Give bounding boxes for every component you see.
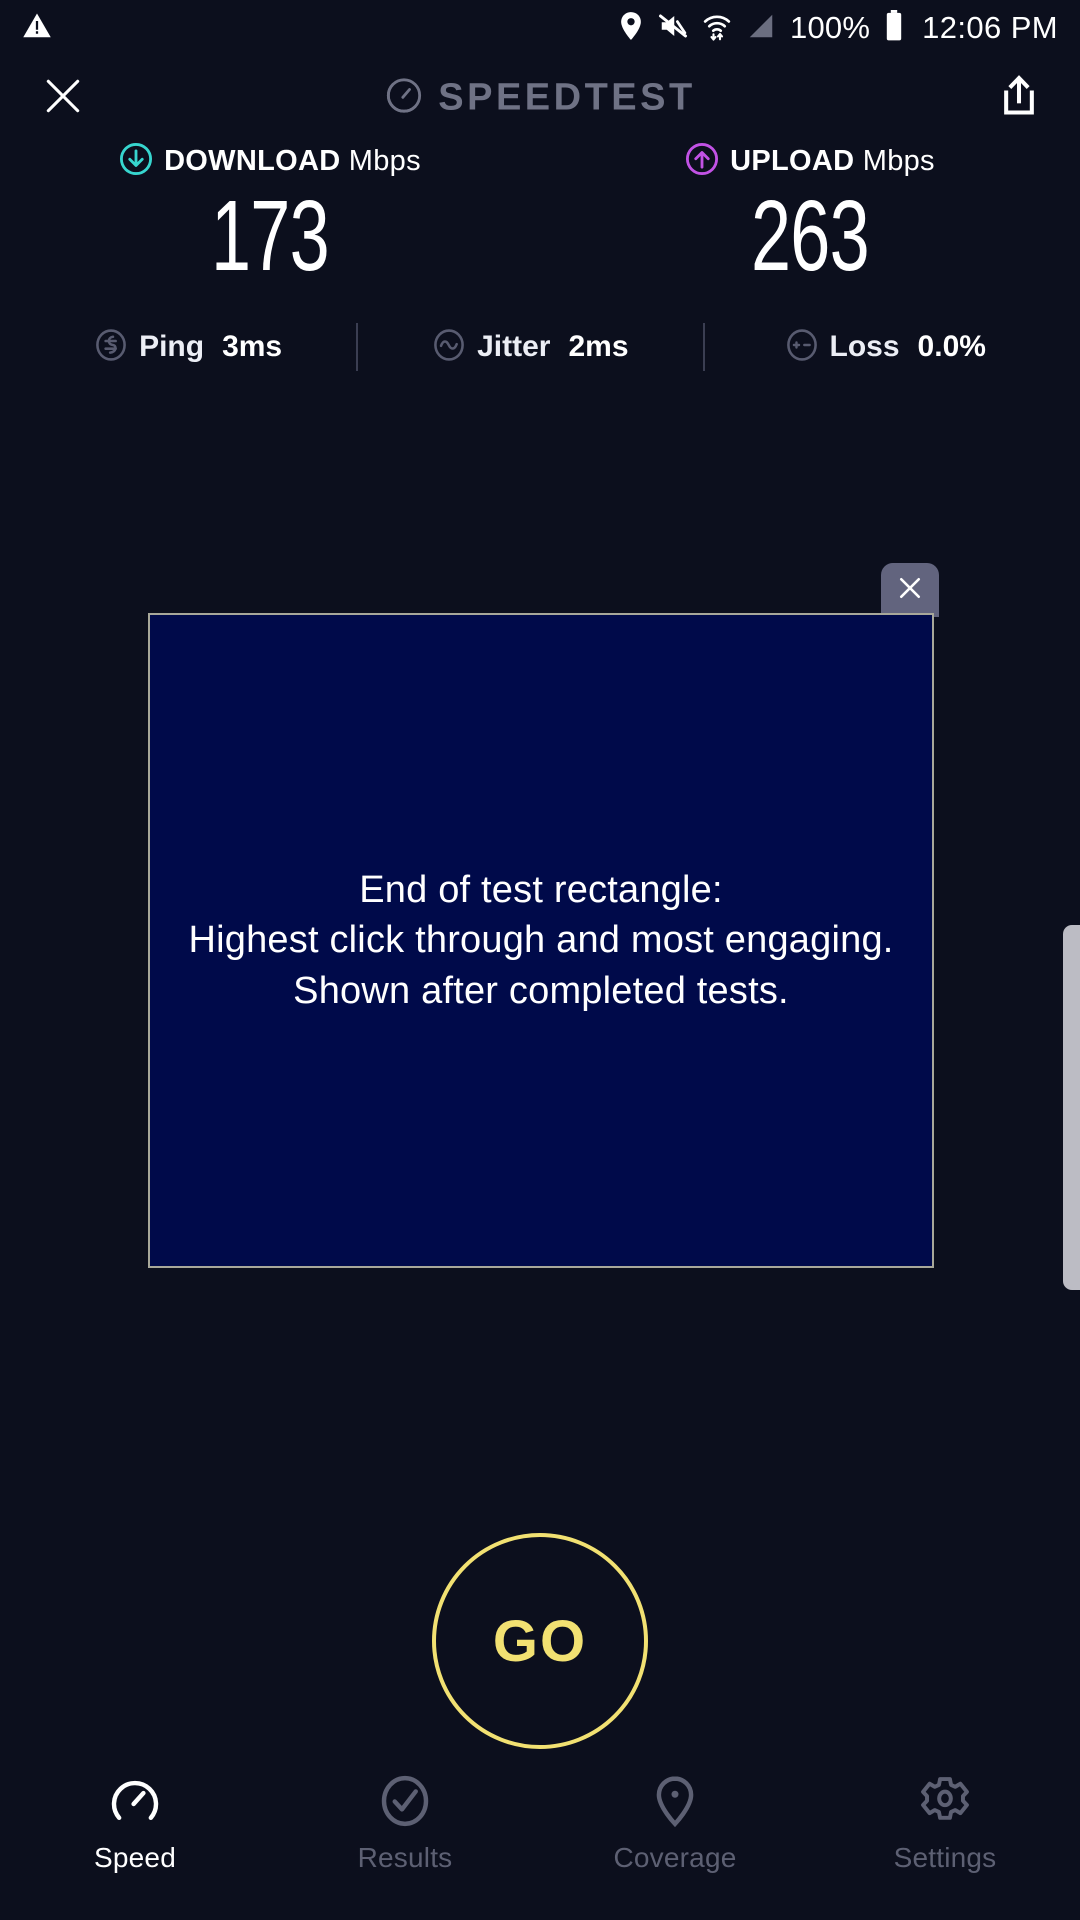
- map-pin-icon: [647, 1774, 703, 1828]
- go-button[interactable]: GO: [432, 1533, 648, 1749]
- speedometer-icon: [384, 76, 424, 121]
- download-arrow-icon: [119, 142, 153, 181]
- loss-value: 0.0%: [918, 330, 986, 364]
- share-icon: [998, 74, 1040, 123]
- jitter-label: Jitter: [477, 330, 550, 364]
- clock-time: 12:06 PM: [922, 10, 1058, 46]
- divider: [703, 323, 705, 371]
- ad-line-1: End of test rectangle:: [188, 865, 893, 915]
- nav-item-results[interactable]: Results: [270, 1774, 540, 1874]
- download-value: 173: [211, 183, 329, 289]
- download-metric: DOWNLOAD Mbps 173: [0, 142, 540, 289]
- advertisement-banner[interactable]: End of test rectangle: Highest click thr…: [148, 613, 934, 1268]
- download-upload-row: DOWNLOAD Mbps 173 UPLOAD Mbps: [0, 142, 1080, 289]
- loss-label: Loss: [830, 330, 900, 364]
- ping-metric: Ping 3ms: [88, 328, 288, 367]
- nav-item-coverage[interactable]: Coverage: [540, 1774, 810, 1874]
- battery-percent: 100%: [790, 10, 870, 46]
- ad-line-2: Highest click through and most engaging.: [188, 915, 893, 965]
- jitter-metric: Jitter 2ms: [426, 328, 634, 367]
- upload-metric: UPLOAD Mbps 263: [540, 142, 1080, 289]
- nav-label-speed: Speed: [94, 1842, 176, 1874]
- upload-arrow-icon: [685, 142, 719, 181]
- go-button-label: GO: [493, 1608, 587, 1675]
- ad-close-button[interactable]: [881, 563, 939, 617]
- share-button[interactable]: [992, 71, 1046, 125]
- speedtest-app-screen: 100% 12:06 PM: [0, 0, 1080, 1920]
- speedometer-icon: [107, 1774, 163, 1828]
- jitter-icon: [432, 328, 466, 367]
- location-pin-icon: [618, 11, 644, 46]
- battery-full-icon: [884, 10, 904, 47]
- jitter-value: 2ms: [568, 330, 628, 364]
- ad-line-3: Shown after completed tests.: [188, 966, 893, 1016]
- nav-label-settings: Settings: [894, 1842, 997, 1874]
- nav-item-speed[interactable]: Speed: [0, 1774, 270, 1874]
- nav-label-coverage: Coverage: [613, 1842, 736, 1874]
- page-title: SPEEDTEST: [438, 77, 695, 120]
- upload-value: 263: [751, 183, 869, 289]
- ping-value: 3ms: [222, 330, 282, 364]
- download-label-row: DOWNLOAD Mbps: [119, 142, 421, 181]
- wifi-icon: [702, 11, 732, 46]
- nav-label-results: Results: [358, 1842, 453, 1874]
- scrollbar-thumb[interactable]: [1063, 925, 1080, 1290]
- mute-icon: [658, 11, 688, 46]
- nav-item-settings[interactable]: Settings: [810, 1774, 1080, 1874]
- ping-jitter-loss-row: Ping 3ms Jitter 2ms: [0, 323, 1080, 371]
- ping-icon: [94, 328, 128, 367]
- cell-signal-icon: [746, 11, 776, 46]
- status-bar-left: [22, 11, 52, 46]
- test-results-panel: DOWNLOAD Mbps 173 UPLOAD Mbps: [0, 142, 1080, 371]
- loss-metric: Loss 0.0%: [779, 328, 992, 367]
- warning-triangle-icon: [22, 11, 52, 46]
- bottom-navigation: Speed Results Coverage: [0, 1758, 1080, 1920]
- status-bar-right: 100% 12:06 PM: [618, 10, 1058, 47]
- status-bar: 100% 12:06 PM: [0, 0, 1080, 56]
- app-header: SPEEDTEST: [0, 56, 1080, 140]
- divider: [356, 323, 358, 371]
- check-circle-icon: [377, 1774, 433, 1828]
- close-icon: [895, 573, 925, 608]
- brand-title-group: SPEEDTEST: [0, 76, 1080, 121]
- upload-label-row: UPLOAD Mbps: [685, 142, 935, 181]
- ping-label: Ping: [139, 330, 204, 364]
- ad-text: End of test rectangle: Highest click thr…: [188, 865, 893, 1015]
- gear-icon: [917, 1774, 973, 1828]
- upload-label: UPLOAD Mbps: [730, 145, 935, 178]
- loss-icon: [785, 328, 819, 367]
- download-label: DOWNLOAD Mbps: [164, 145, 421, 178]
